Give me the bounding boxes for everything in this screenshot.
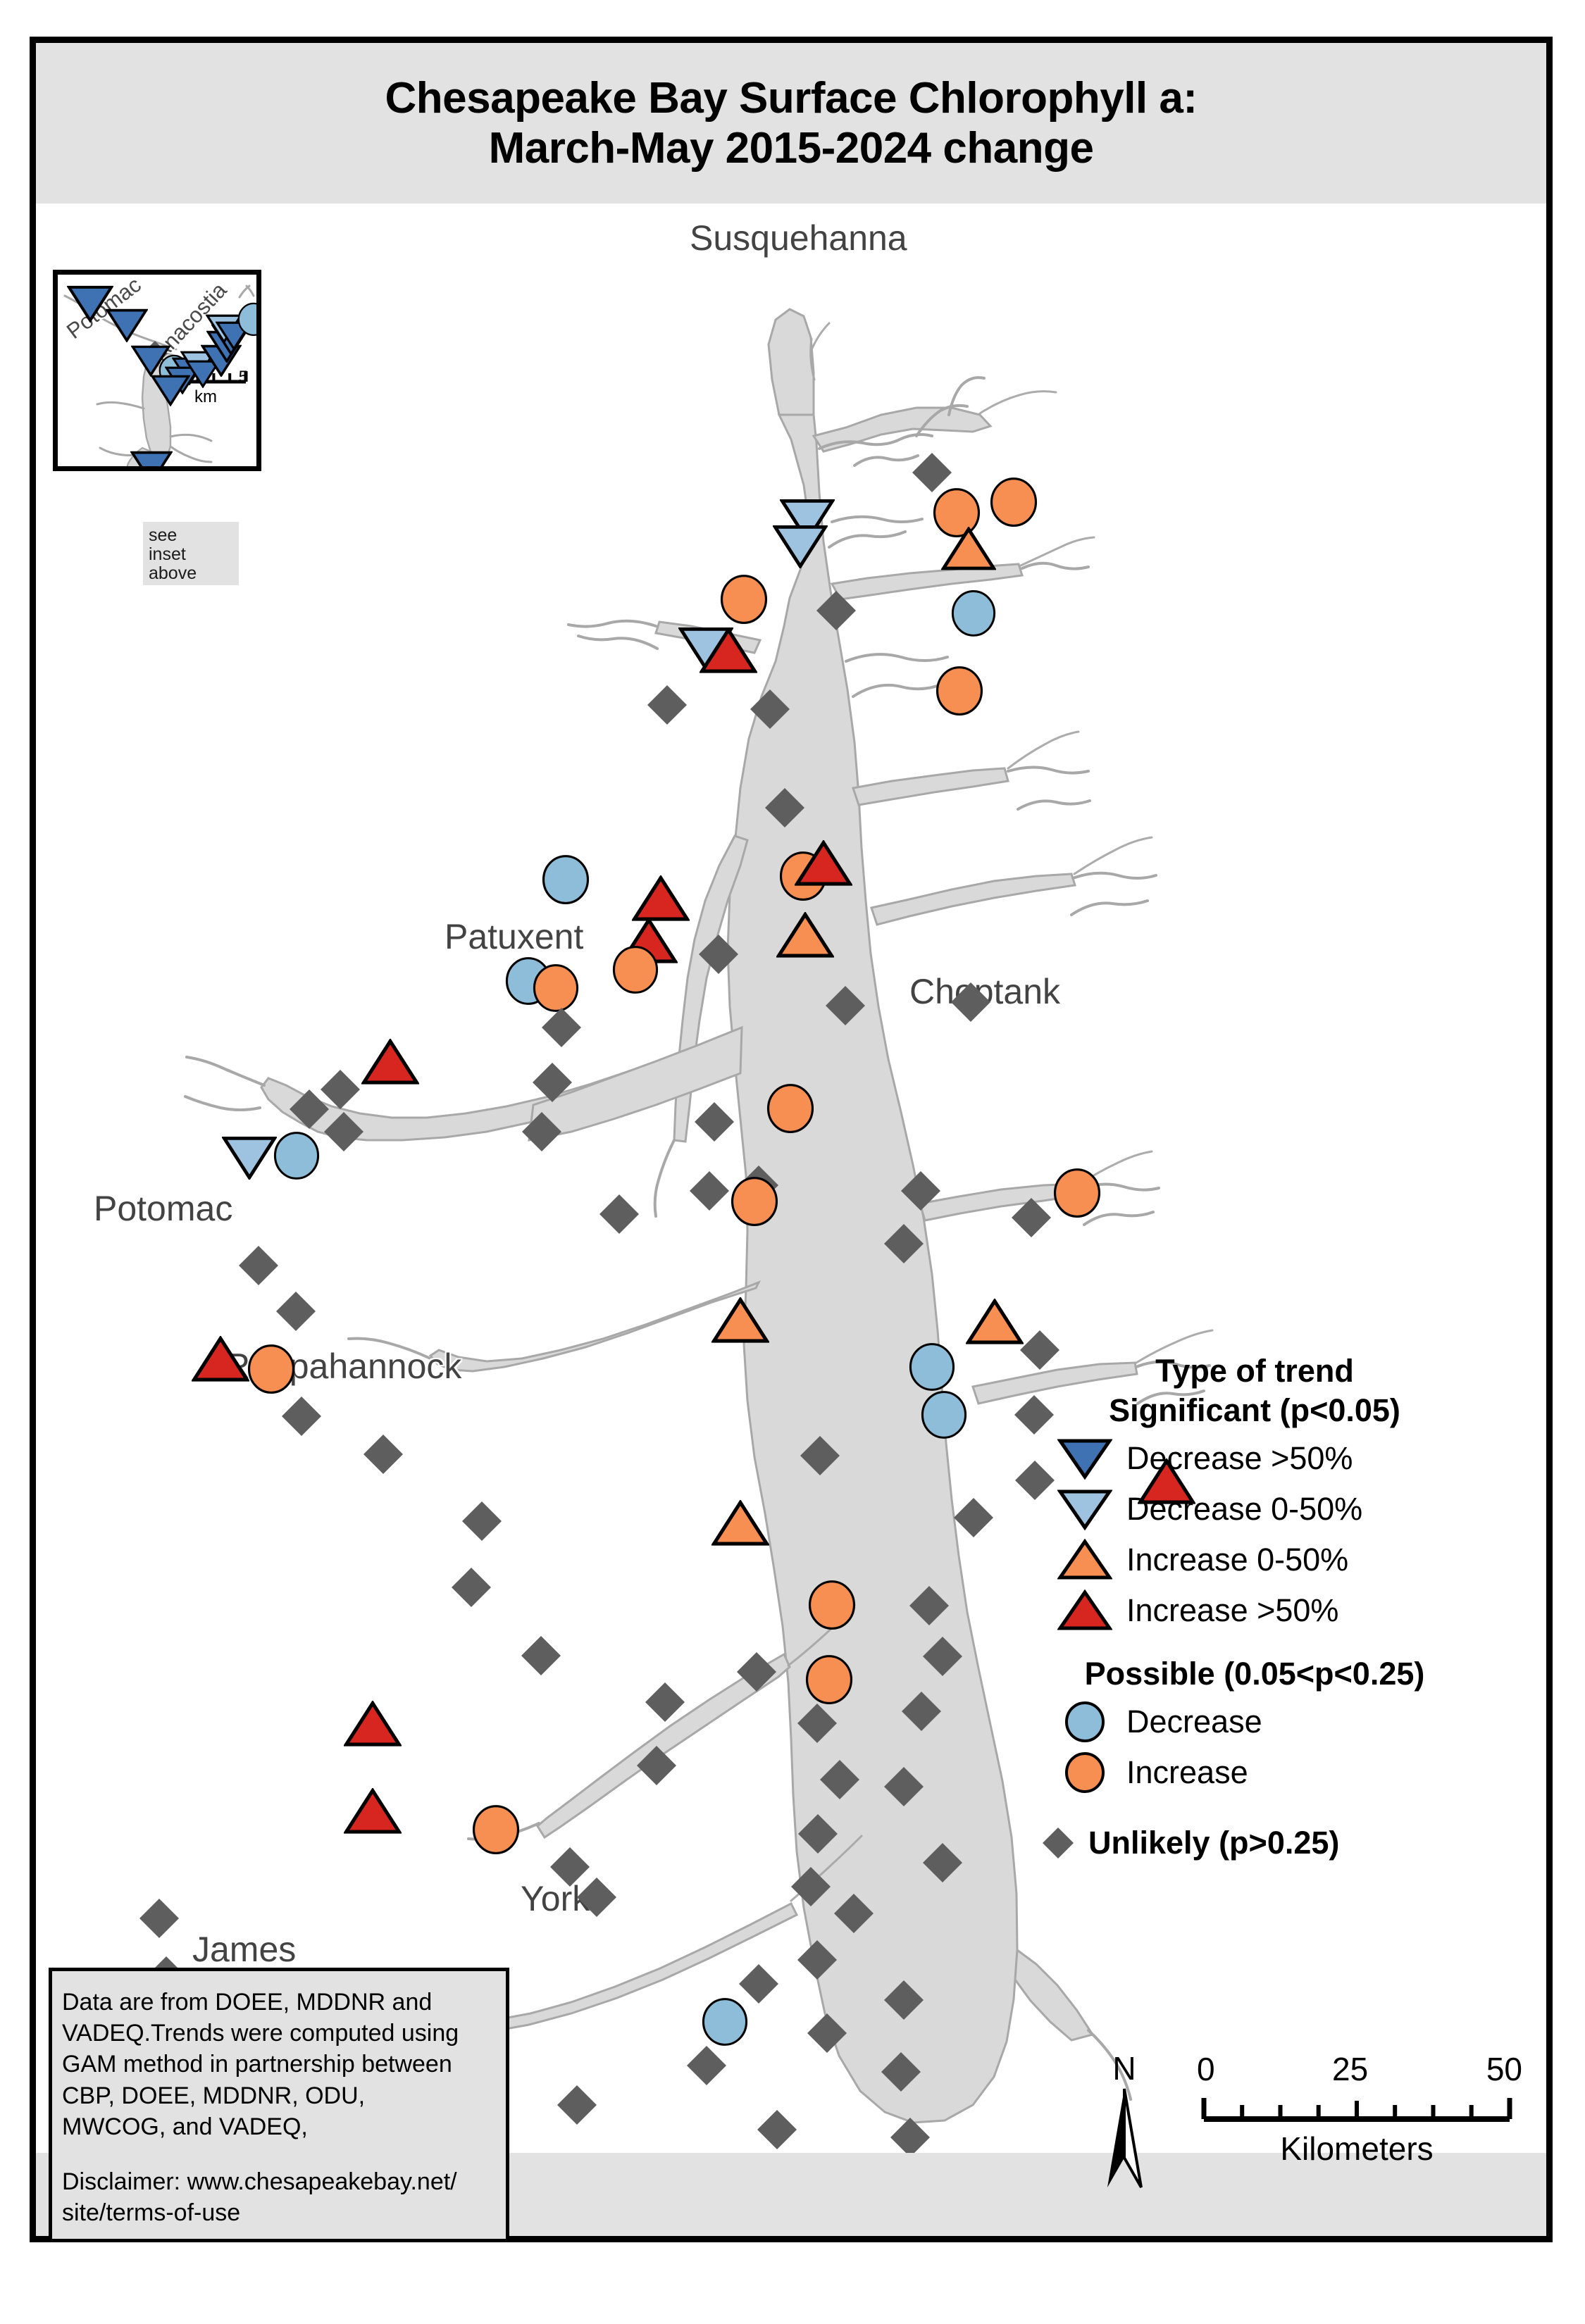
map-title-band: Chesapeake Bay Surface Chlorophyll a: Ma…: [36, 43, 1546, 204]
scale-bar-ticks: [1191, 2088, 1522, 2125]
legend-item-increase-large[interactable]: Increase >50%: [1043, 1585, 1466, 1636]
disclaimer-line-1: Data are from DOEE, MDDNR and: [62, 1987, 499, 2018]
circle-icon: [1043, 1751, 1126, 1794]
triangle-down-icon: [1043, 1437, 1126, 1480]
disclaimer-line-7: site/terms-of-use: [62, 2197, 499, 2228]
disclaimer-line-2: VADEQ.Trends were computed using: [62, 2018, 499, 2049]
scale-label-25: 25: [1332, 2050, 1368, 2088]
map-canvas[interactable]: Potomac Anacostia 0 5: [36, 204, 1546, 2236]
disclaimer-line-5: MWCOG, and VADEQ,: [62, 2111, 499, 2142]
map-figure: Chesapeake Bay Surface Chlorophyll a: Ma…: [0, 0, 1585, 2324]
inset-map[interactable]: Potomac Anacostia 0 5: [53, 270, 261, 471]
disclaimer-box: Data are from DOEE, MDDNR and VADEQ.Tren…: [49, 1968, 509, 2242]
inset-scalebar: 0 5 km: [163, 368, 248, 407]
circle-icon: [1043, 1700, 1126, 1744]
see-inset-line-3: above: [149, 564, 239, 583]
triangle-up-icon: [1043, 1539, 1126, 1581]
legend-item-unlikely[interactable]: Unlikely (p>0.25): [1028, 1818, 1466, 1868]
legend-label: Increase: [1126, 1754, 1248, 1791]
title-line-1: Chesapeake Bay Surface Chlorophyll a:: [385, 73, 1197, 123]
inset-scale-ticks: [163, 368, 248, 385]
legend-item-increase-small[interactable]: Increase 0-50%: [1043, 1535, 1466, 1585]
legend-title: Type of trend: [1043, 1353, 1466, 1389]
map-frame: Chesapeake Bay Surface Chlorophyll a: Ma…: [30, 37, 1553, 2242]
triangle-down-icon: [1043, 1488, 1126, 1530]
legend: Type of trend Significant (p<0.05) Decre…: [1043, 1353, 1466, 1868]
disclaimer-line-4: CBP, DOEE, MDDNR, ODU,: [62, 2080, 499, 2111]
north-arrow: N: [1086, 2054, 1163, 2194]
bay-geometry: [36, 204, 1546, 2236]
disclaimer-line-3: GAM method in partnership between: [62, 2049, 499, 2080]
legend-significant-header: Significant (p<0.05): [1043, 1392, 1466, 1429]
scale-label-0: 0: [1197, 2050, 1215, 2088]
legend-item-possible-decrease[interactable]: Decrease: [1043, 1697, 1466, 1747]
scale-bar-unit: Kilometers: [1191, 2130, 1522, 2168]
legend-spacer: [1043, 1636, 1466, 1656]
legend-label: Unlikely (p>0.25): [1088, 1825, 1339, 1861]
legend-possible-header: Possible (0.05<p<0.25): [1043, 1656, 1466, 1692]
legend-item-decrease-large[interactable]: Decrease >50%: [1043, 1433, 1466, 1484]
scale-label-50: 50: [1486, 2050, 1522, 2088]
legend-spacer-2: [1043, 1798, 1466, 1818]
scale-bar-labels: 0 25 50: [1191, 2050, 1522, 2088]
legend-item-decrease-small[interactable]: Decrease 0-50%: [1043, 1484, 1466, 1535]
see-inset-note: see inset above: [143, 522, 239, 585]
legend-label: Decrease: [1126, 1704, 1262, 1740]
north-arrow-icon: [1099, 2085, 1150, 2190]
inset-scale-unit: km: [163, 387, 248, 407]
legend-label: Decrease 0-50%: [1126, 1491, 1362, 1528]
legend-label: Increase 0-50%: [1126, 1542, 1348, 1578]
diamond-icon: [1028, 1826, 1088, 1860]
see-inset-line-1: see: [149, 526, 239, 545]
title-line-2: March-May 2015-2024 change: [489, 123, 1094, 173]
triangle-up-icon: [1043, 1589, 1126, 1632]
scale-bar: 0 25 50 Kilometers: [1191, 2050, 1522, 2168]
legend-item-possible-increase[interactable]: Increase: [1043, 1747, 1466, 1798]
legend-label: Decrease >50%: [1126, 1440, 1353, 1477]
legend-label: Increase >50%: [1126, 1592, 1338, 1629]
disclaimer-line-6: Disclaimer: www.chesapeakebay.net/: [62, 2166, 499, 2197]
see-inset-line-2: inset: [149, 545, 239, 564]
north-letter: N: [1086, 2054, 1163, 2083]
